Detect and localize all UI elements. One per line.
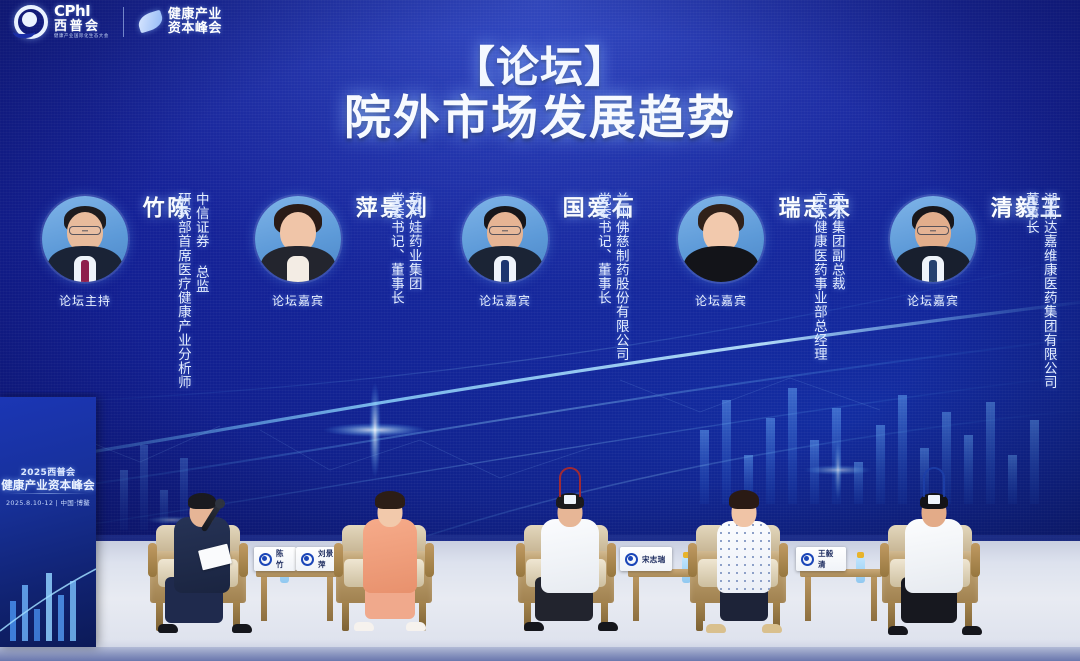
badge-icon <box>564 495 576 504</box>
stage-banner-divider <box>8 493 88 494</box>
logo-divider <box>123 7 124 37</box>
panelist-role-1: 论坛嘉宾 <box>255 292 341 309</box>
person-guest-3 <box>688 447 798 617</box>
panelist-title-2-line-1: 党委书记、董事长 <box>594 192 611 361</box>
side-table-0: 陈竹 刘景萍 <box>256 569 338 621</box>
cphi-logo-type: CPhI 西普会 健康产业国际化生态大会 <box>54 4 109 39</box>
glasses-icon <box>69 226 101 235</box>
nameplate-name-4: 王毅清 <box>818 548 841 570</box>
panelist-title-4-line-1: 董事长 <box>1022 192 1039 389</box>
panelist-title-4: 湖南达嘉维康医药集团有限公司 董事长 <box>1022 192 1057 389</box>
leaf-icon <box>136 10 165 34</box>
avatar-0 <box>42 196 128 282</box>
stage-banner-line2: 健康产业资本峰会 <box>0 477 96 493</box>
panelist-title-3-line-0: 京东集团副总裁 <box>828 192 845 361</box>
badge-icon <box>928 495 940 504</box>
panelist-title-0: 中信证券 总监 研究部首席医疗健康产业分析师 <box>174 192 209 389</box>
side-table-2: 王毅清 <box>800 569 882 621</box>
nameplate-logo-icon <box>801 553 814 566</box>
panelist-title-1-line-1: 党委书记、董事长 <box>387 192 404 305</box>
stage-banner-pillar: 2025西普会 健康产业资本峰会 2025.8.10-12 | 中国·博鳌 <box>0 397 96 647</box>
cphi-sub-name: 健康产业国际化生态大会 <box>54 35 109 39</box>
title-line-1: 【论坛】 <box>0 46 1080 91</box>
panelist-card-row: 论坛主持 陈竹 中信证券 总监 研究部首席医疗健康产业分析师 论坛嘉宾 刘景萍 <box>0 182 1080 432</box>
panelist-title-2: 兰州佛慈制药股份有限公司 党委书记、董事长 <box>594 192 629 361</box>
forum-title: 【论坛】 院外市场发展趋势 <box>0 46 1080 145</box>
person-body-1 <box>350 463 430 593</box>
nameplate-logo-icon <box>625 553 638 566</box>
header-logo-bar: CPhI 西普会 健康产业国际化生态大会 健康产业 资本峰会 <box>14 4 222 39</box>
person-guest-4 <box>880 447 990 617</box>
panelist-title-0-line-1: 研究部首席医疗健康产业分析师 <box>174 192 191 389</box>
summit-line1: 健康产业 <box>168 8 222 22</box>
panelist-role-3: 论坛嘉宾 <box>678 292 764 309</box>
banner-chart-graphic <box>0 527 96 647</box>
nameplate-logo-icon <box>301 553 314 566</box>
cphi-logo: CPhI 西普会 健康产业国际化生态大会 <box>14 4 109 39</box>
panelist-title-1-line-0: 葫芦娃药业集团 <box>405 192 422 305</box>
glasses-icon <box>489 226 521 235</box>
glasses-icon <box>917 226 949 235</box>
summit-logo: 健康产业 资本峰会 <box>138 8 222 35</box>
cphi-ring-icon <box>14 5 48 39</box>
title-line-2: 院外市场发展趋势 <box>0 94 1080 145</box>
person-guest-1 <box>334 447 444 617</box>
nameplate-3: 宋志瑞 <box>620 547 672 571</box>
person-body-2 <box>530 463 610 593</box>
person-body-3 <box>704 463 784 593</box>
avatar-2 <box>462 196 548 282</box>
panelist-role-0: 论坛主持 <box>42 292 128 309</box>
nameplate-logo-icon <box>259 553 272 566</box>
panelist-role-4: 论坛嘉宾 <box>890 292 976 309</box>
nameplate-name-1: 刘景萍 <box>318 548 335 570</box>
avatar-3 <box>678 196 764 282</box>
stage-banner-date: 2025.8.10-12 | 中国·博鳌 <box>0 497 96 507</box>
person-moderator <box>148 447 258 617</box>
person-body-0 <box>162 463 242 593</box>
nameplate-4: 王毅清 <box>796 547 846 571</box>
person-guest-2 <box>516 447 626 617</box>
panelist-role-2: 论坛嘉宾 <box>462 292 548 309</box>
panelist-title-0-line-0: 中信证券 总监 <box>192 192 209 389</box>
stage-photo-area: 2025西普会 健康产业资本峰会 2025.8.10-12 | 中国·博鳌 <box>0 392 1080 661</box>
panelist-title-1: 葫芦娃药业集团 党委书记、董事长 <box>387 192 422 305</box>
panelist-title-3: 京东集团副总裁 京东健康医药事业部总经理 <box>810 192 845 361</box>
summit-line2: 资本峰会 <box>168 22 222 36</box>
cphi-acronym: CPhI <box>54 4 109 19</box>
lanyard-icon <box>559 467 581 497</box>
summit-logo-type: 健康产业 资本峰会 <box>168 8 222 35</box>
avatar-1 <box>255 196 341 282</box>
avatar-4 <box>890 196 976 282</box>
person-body-4 <box>894 463 974 593</box>
panelist-title-4-line-0: 湖南达嘉维康医药集团有限公司 <box>1040 192 1057 389</box>
nameplate-name-3: 宋志瑞 <box>642 554 665 565</box>
panelist-title-2-line-0: 兰州佛慈制药股份有限公司 <box>612 192 629 361</box>
lanyard-icon <box>923 467 945 497</box>
cphi-cn-name: 西普会 <box>54 20 109 33</box>
nameplate-0: 陈竹 <box>254 547 296 571</box>
panelist-title-3-line-1: 京东健康医药事业部总经理 <box>810 192 827 361</box>
nameplate-name-0: 陈竹 <box>276 548 291 570</box>
presentation-stage-scene: CPhI 西普会 健康产业国际化生态大会 健康产业 资本峰会 【论坛】 院外市场… <box>0 0 1080 661</box>
